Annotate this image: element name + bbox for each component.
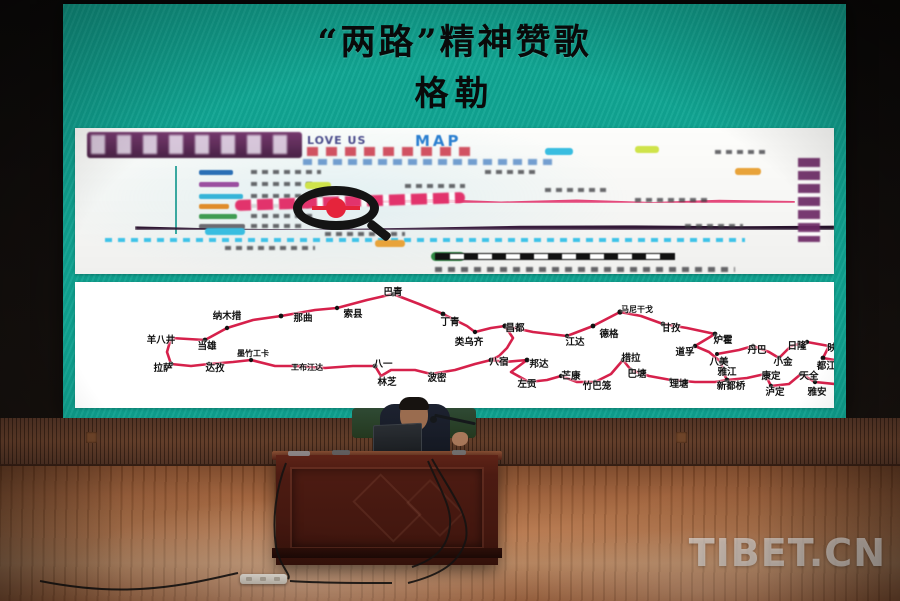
- slide-subtitle: 格勒: [63, 66, 846, 115]
- map-annot-4: [635, 198, 707, 202]
- microphone-head: [430, 416, 437, 423]
- route-node-label: 竹巴笼: [583, 378, 612, 392]
- red-location-dot-icon: [326, 198, 346, 218]
- wall-left: [0, 0, 63, 418]
- route-node-label: 那曲: [293, 310, 312, 324]
- map-annot-5: [685, 224, 743, 228]
- map-chip-e: [635, 146, 659, 153]
- map-annot-8: [715, 150, 765, 154]
- route-node-label: 天全: [799, 368, 818, 382]
- map-vertical-title: [798, 158, 820, 242]
- route-node-label: 炉霍: [713, 332, 732, 346]
- route-node-label: 巴塘: [627, 366, 646, 380]
- map-annot-3: [545, 188, 611, 192]
- floor-cables: [0, 455, 900, 601]
- wall-outlet-2: [676, 432, 687, 443]
- route-node-label: 泸定: [765, 384, 784, 398]
- power-strip-socket-2: [260, 577, 266, 581]
- map-footer-text: [435, 267, 735, 272]
- route-node-label: 工布江达: [291, 362, 323, 373]
- route-node-label: 八一: [373, 356, 392, 370]
- legend-row-2: [199, 182, 239, 187]
- route-node-label: 拉萨: [153, 360, 172, 374]
- legend-row-5: [199, 214, 237, 219]
- map-river-dashed: [105, 238, 745, 242]
- speaker-hand: [452, 432, 468, 446]
- power-strip-socket-3: [274, 577, 280, 581]
- power-strip-socket-1: [246, 577, 252, 581]
- route-node-label: 索县: [343, 306, 362, 320]
- route-node-label: 小金: [773, 354, 792, 368]
- map-chip-f: [735, 168, 761, 175]
- map-header-subtitle-strip: [303, 159, 553, 165]
- route-node-label: 马尼干戈: [621, 304, 653, 315]
- map-legend-rule: [175, 166, 189, 234]
- map-chip-b: [375, 240, 405, 247]
- route-diagram-image: 巴青纳木措那曲索县丁青马尼干戈甘孜德格炉霍羊八井当雄昌都类乌齐江达墨竹工卡拉萨达…: [75, 282, 834, 408]
- route-node-label: 墨竹工卡: [237, 348, 269, 359]
- route-node-label: 纳木措: [213, 308, 242, 322]
- route-node-label: 芒康: [561, 368, 580, 382]
- route-node-label: 当雄: [197, 338, 216, 352]
- route-node-label: 雅安: [807, 384, 826, 398]
- legend-row-3: [199, 194, 243, 199]
- route-node-label: 邦达: [529, 356, 548, 370]
- route-node-label: 巴青: [383, 284, 402, 298]
- legend-row-1: [199, 170, 233, 175]
- map-annot-7: [325, 232, 405, 236]
- route-node-label: 江达: [565, 334, 584, 348]
- map-header-english: LOVE US: [307, 134, 366, 147]
- route-node-label: 达孜: [205, 360, 224, 374]
- wall-outlet: [86, 432, 97, 443]
- map-annot-6: [225, 246, 315, 250]
- map-annot-2: [485, 170, 539, 174]
- route-node-label: 甘孜: [661, 320, 680, 334]
- map-scale-bar: [435, 253, 675, 260]
- route-node-label: 道孚: [675, 344, 694, 358]
- route-node-label: 理塘: [669, 376, 688, 390]
- route-node-label: 类乌齐: [455, 334, 484, 348]
- route-node-label: 丁青: [440, 314, 459, 328]
- route-node-label: 波密: [427, 370, 446, 384]
- map-chip-g: [205, 228, 245, 235]
- map-title-glyphs: [91, 135, 297, 154]
- route-node-label: 新都桥: [717, 378, 746, 392]
- route-node-label: 映秀: [827, 340, 834, 354]
- slide-title: “两路”精神赞歌: [63, 14, 846, 65]
- map-chip-d: [545, 148, 573, 155]
- projection-screen: “两路”精神赞歌 格勒 LOVE US MAP: [63, 4, 846, 418]
- tourist-map-image: LOVE US MAP: [75, 128, 834, 274]
- speaker-hair: [399, 397, 429, 410]
- magnifier-marker-icon: [293, 186, 379, 230]
- map-annot-1: [405, 184, 465, 188]
- route-node-label: 康定: [761, 368, 780, 382]
- route-node-label: 都江堰: [817, 358, 834, 372]
- wall-right: [846, 0, 900, 418]
- route-node-label: 丹巴: [747, 342, 766, 356]
- route-node-label: 日隆: [787, 338, 806, 352]
- route-node-label: 措拉: [621, 350, 640, 364]
- route-node-label: 左贡: [517, 376, 536, 390]
- legend-row-4: [199, 204, 229, 209]
- map-header-chinese-strip: [307, 147, 477, 156]
- route-node-label: 林芝: [377, 374, 396, 388]
- site-watermark: TIBET.CN: [689, 531, 886, 575]
- route-node-label: 德格: [599, 326, 618, 340]
- auditorium-scene: “两路”精神赞歌 格勒 LOVE US MAP: [0, 0, 900, 601]
- legend-text-1: [251, 170, 321, 174]
- route-node-label: 雅江: [717, 364, 736, 378]
- route-node-label: 羊八井: [147, 332, 176, 346]
- route-node-label: 八宿: [489, 354, 508, 368]
- power-strip: [240, 574, 287, 584]
- route-node-label: 昌都: [505, 320, 524, 334]
